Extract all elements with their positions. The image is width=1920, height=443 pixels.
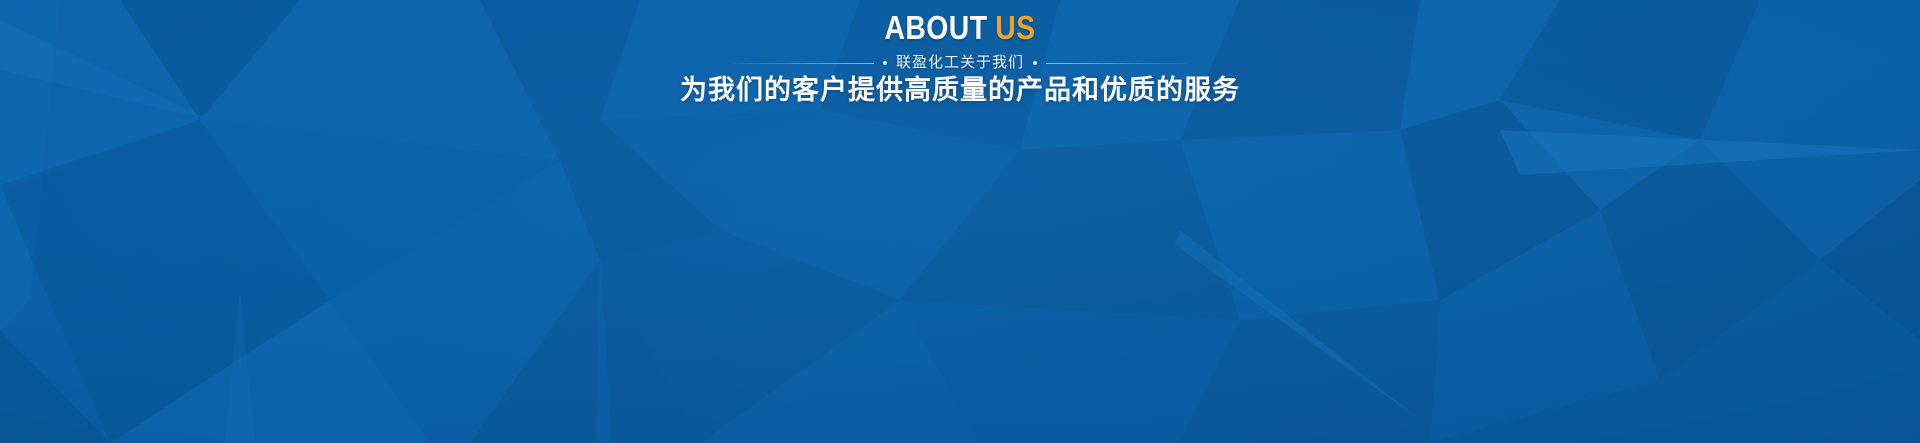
divider-dot-left [883, 61, 887, 65]
subtitle-divider: 联盈化工关于我们 [0, 53, 1920, 73]
page-title-primary: ABOUT [884, 9, 987, 46]
divider-line-left [734, 63, 874, 64]
divider-dot-right [1033, 61, 1037, 65]
divider-label: 联盈化工关于我们 [896, 54, 1024, 72]
divider-line-right [1046, 63, 1186, 64]
page-title: ABOUTUS [134, 0, 1785, 46]
page-title-accent: US [995, 9, 1035, 46]
about-us-banner: ABOUTUS 联盈化工关于我们 为我们的客户提供高质量的产品和优质的服务 [0, 0, 1920, 443]
page-subtitle: 为我们的客户提供高质量的产品和优质的服务 [0, 74, 1920, 106]
banner-header: ABOUTUS 联盈化工关于我们 为我们的客户提供高质量的产品和优质的服务 [0, 0, 1920, 106]
